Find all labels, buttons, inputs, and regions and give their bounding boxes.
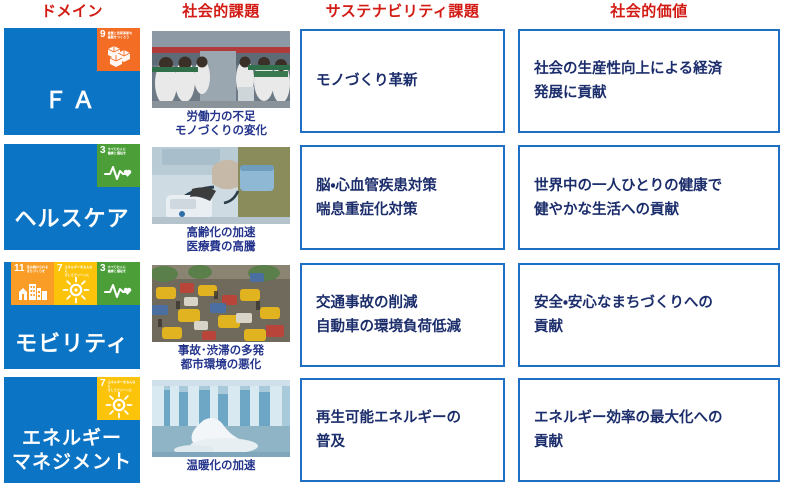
social-value-box: 安全・安心なまちづくりへの 貢献: [518, 263, 780, 367]
sdg-badge-11: 11 住み続けられる まちづくりを: [11, 262, 54, 305]
domain-panel-mobility: 11 住み続けられる まちづくりを: [4, 262, 140, 369]
sdg-title: 住み続けられる まちづくりを: [27, 264, 49, 273]
affordable-clean-energy-icon: [97, 390, 140, 420]
social-value-box: 社会の生産性向上による経済 発展に貢献: [518, 29, 780, 133]
good-health-icon: [97, 157, 140, 187]
matrix-row: 7 エネルギーをみんなに そしてクリーンに: [0, 376, 794, 490]
sustainability-issue-box: 交通事故の削減 自動車の環境負荷低減: [300, 263, 505, 367]
sdg-badge-strip: 11 住み続けられる まちづくりを: [11, 262, 140, 305]
sustainable-cities-icon: [11, 275, 54, 305]
sdg-number: 9: [100, 30, 106, 40]
domain-panel-healthcare: 3 すべての人に 健康と福祉を ヘルスケア: [4, 144, 140, 250]
industry-innovation-icon: [97, 41, 140, 71]
sdg-title: すべての人に 健康と福祉を: [108, 264, 127, 273]
sustainability-issue-box: モノづくり革新: [300, 29, 505, 133]
sdg-number: 7: [100, 379, 106, 389]
sdg-value-matrix: ドメイン 社会的課題 サステナビリティ課題 社会的価値 9 産業と技術革新の 基…: [0, 0, 794, 493]
domain-panel-energy-management: 7 エネルギーをみんなに そしてクリーンに: [4, 377, 140, 483]
social-value-text: 安全・安心なまちづくりへの 貢献: [520, 291, 713, 339]
sdg-badge-7: 7 エネルギーをみんなに そしてクリーンに: [54, 262, 97, 305]
column-header-domain: ドメイン: [4, 2, 140, 22]
sdg-number: 11: [14, 264, 25, 274]
melting-glacier-photo: [152, 380, 290, 457]
issue-caption: 高齢化の加速 医療費の高騰: [150, 226, 292, 254]
sdg-number: 3: [100, 146, 106, 156]
issue-caption: 労働力の不足 モノづくりの変化: [150, 110, 292, 138]
domain-label: ＦＡ: [4, 87, 140, 113]
sustainability-issue-box: 再生可能エネルギーの 普及: [300, 378, 505, 482]
factory-assembly-line-photo: [152, 31, 290, 108]
sustainability-issue-text: 再生可能エネルギーの 普及: [302, 406, 461, 454]
domain-label: エネルギー マネジメント: [4, 427, 140, 475]
social-issue-cell: 温暖化の加速: [150, 376, 292, 473]
blood-pressure-monitor-photo: [152, 147, 290, 224]
social-issue-cell: 労働力の不足 モノづくりの変化: [150, 27, 292, 138]
issue-caption: 事故･渋滞の多発 都市環境の悪化: [150, 344, 292, 372]
sdg-title: すべての人に 健康と福祉を: [108, 146, 127, 155]
sdg-badge-9: 9 産業と技術革新の 基盤をつくろう: [97, 28, 140, 71]
sdg-title: 産業と技術革新の 基盤をつくろう: [108, 30, 133, 39]
column-header-row: ドメイン 社会的課題 サステナビリティ課題 社会的価値: [0, 0, 794, 26]
sdg-number: 3: [100, 264, 106, 274]
social-value-text: 社会の生産性向上による経済 発展に貢献: [520, 57, 722, 105]
domain-label: ヘルスケア: [4, 206, 140, 232]
column-header-social-value: 社会的価値: [516, 2, 782, 22]
matrix-row: 11 住み続けられる まちづくりを: [0, 261, 794, 373]
sdg-number: 7: [57, 264, 63, 274]
sdg-badge-7: 7 エネルギーをみんなに そしてクリーンに: [97, 377, 140, 420]
domain-panel-fa: 9 産業と技術革新の 基盤をつくろう: [4, 28, 140, 135]
social-value-text: エネルギー効率の最大化への 貢献: [520, 406, 723, 454]
affordable-clean-energy-icon: [54, 275, 97, 305]
social-value-box: エネルギー効率の最大化への 貢献: [518, 378, 780, 482]
sustainability-issue-text: 交通事故の削減 自動車の環境負荷低減: [302, 291, 461, 339]
matrix-row: 9 産業と技術革新の 基盤をつくろう: [0, 27, 794, 139]
social-value-text: 世界中の一人ひとりの健康で 健やかな生活への貢献: [520, 174, 722, 222]
social-value-box: 世界中の一人ひとりの健康で 健やかな生活への貢献: [518, 145, 780, 250]
social-issue-cell: 事故･渋滞の多発 都市環境の悪化: [150, 261, 292, 372]
social-issue-cell: 高齢化の加速 医療費の高騰: [150, 143, 292, 254]
traffic-congestion-photo: [152, 265, 290, 342]
sdg-badge-strip: 3 すべての人に 健康と福祉を: [97, 144, 140, 187]
sustainability-issue-text: モノづくり革新: [302, 69, 418, 93]
matrix-row: 3 すべての人に 健康と福祉を ヘルスケア: [0, 143, 794, 258]
column-header-social-issue: 社会的課題: [150, 2, 292, 22]
sustainability-issue-text: 脳・心血管疾患対策 喘息重症化対策: [302, 174, 437, 222]
domain-label: モビリティ: [4, 331, 140, 357]
sustainability-issue-box: 脳・心血管疾患対策 喘息重症化対策: [300, 145, 505, 250]
sdg-badge-3: 3 すべての人に 健康と福祉を: [97, 144, 140, 187]
good-health-icon: [97, 275, 140, 305]
sdg-badge-3: 3 すべての人に 健康と福祉を: [97, 262, 140, 305]
column-header-sustainability-issue: サステナビリティ課題: [300, 2, 505, 22]
sdg-badge-strip: 9 産業と技術革新の 基盤をつくろう: [97, 28, 140, 71]
issue-caption: 温暖化の加速: [150, 459, 292, 473]
sdg-badge-strip: 7 エネルギーをみんなに そしてクリーンに: [97, 377, 140, 420]
